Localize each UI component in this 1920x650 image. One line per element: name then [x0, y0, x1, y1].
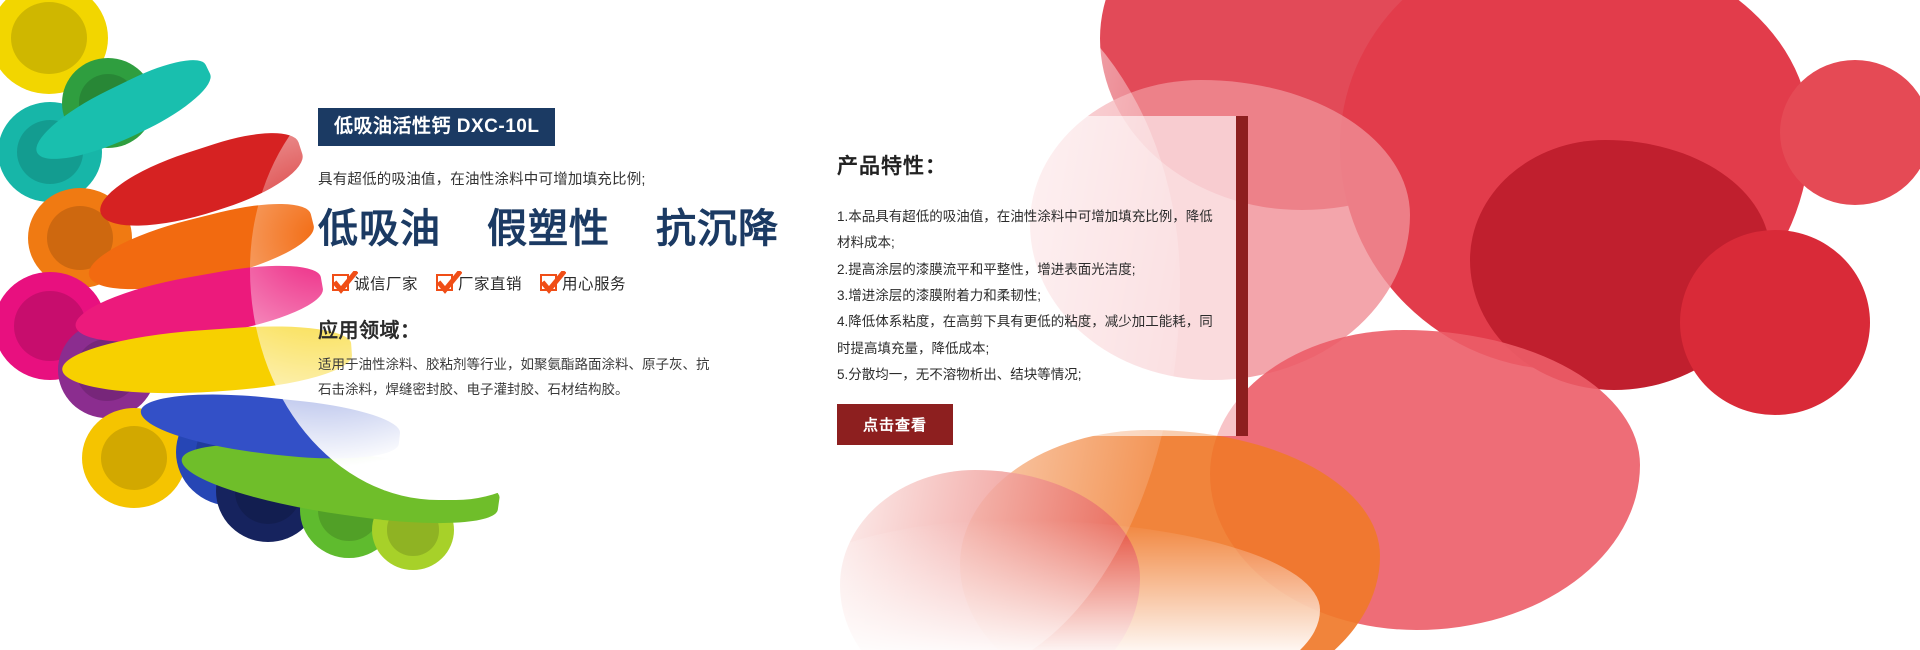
paint-ring-teal	[0, 102, 102, 202]
paint-streak-teal	[26, 47, 220, 177]
paint-ring-purple	[58, 322, 156, 418]
paint-ring-blue	[176, 398, 288, 506]
paint-streak-orange	[82, 191, 320, 307]
paint-ring-red-farright	[1780, 60, 1920, 205]
paint-ring-magenta	[0, 272, 106, 380]
paint-smear-red-right	[1340, 0, 1810, 370]
paint-ring-yellow	[0, 0, 108, 94]
checkbox-checked-icon	[436, 274, 453, 291]
trust-badge-row: 诚信厂家 厂家直销 用心服务	[332, 272, 738, 294]
paint-smear-pink-low	[1210, 330, 1640, 630]
paint-streak-yellow	[60, 320, 354, 402]
paint-smear-darkred	[1470, 140, 1770, 390]
paint-ring-navy	[216, 440, 320, 542]
paint-smear-white-bottom	[780, 520, 1320, 650]
headline-word-2: 假塑性	[487, 206, 610, 251]
application-section-body: 适用于油性涂料、胶粘剂等行业，如聚氨酯路面涂料、原子灰、抗石击涂料，焊缝密封胶、…	[318, 353, 718, 403]
feature-list: 1.本品具有超低的吸油值，在油性涂料中可增加填充比例，降低材料成本; 2.提高涂…	[837, 204, 1222, 388]
panel-accent-bar	[1236, 116, 1248, 436]
feature-list-item: 1.本品具有超低的吸油值，在油性涂料中可增加填充比例，降低材料成本;	[837, 204, 1222, 257]
paint-ring-green	[62, 58, 154, 148]
paint-streak-magenta	[71, 255, 328, 358]
panel-content: 产品特性： 1.本品具有超低的吸油值，在油性涂料中可增加填充比例，降低材料成本;…	[803, 116, 1248, 445]
left-copy-block: 低吸油活性钙 DXC-10L 具有超低的吸油值，在油性涂料中可增加填充比例; 低…	[318, 108, 738, 403]
headline-word-3: 抗沉降	[656, 206, 779, 251]
paint-streak-red	[91, 119, 310, 245]
product-headline: 低吸油 假塑性 抗沉降	[318, 206, 738, 252]
view-details-button[interactable]: 点击查看	[837, 404, 953, 445]
trust-badge-item-2: 厂家直销	[436, 272, 522, 294]
paint-smear-orange-bottom	[960, 430, 1380, 650]
panel-title: 产品特性：	[837, 150, 1214, 180]
paint-ring-red-right-edge	[1680, 230, 1870, 415]
checkbox-checked-icon	[540, 274, 557, 291]
banner-stage: 低吸油活性钙 DXC-10L 具有超低的吸油值，在油性涂料中可增加填充比例; 低…	[0, 0, 1920, 650]
checkbox-checked-icon	[332, 274, 349, 291]
feature-list-item: 4.降低体系粘度，在高剪下具有更低的粘度，减少加工能耗，同时提高填充量，降低成本…	[837, 309, 1222, 362]
paint-ring-green-low	[300, 462, 398, 558]
trust-badge-label-1: 诚信厂家	[354, 272, 418, 294]
feature-list-item: 5.分散均一，无不溶物析出、结块等情况;	[837, 362, 1222, 388]
product-features-panel: 产品特性： 1.本品具有超低的吸油值，在油性涂料中可增加填充比例，降低材料成本;…	[803, 116, 1248, 436]
trust-badge-item-1: 诚信厂家	[332, 272, 418, 294]
headline-word-1: 低吸油	[318, 206, 441, 251]
paint-ring-yellow-low	[82, 408, 186, 508]
paint-smear-red-bottomleft	[840, 470, 1140, 650]
application-section-heading: 应用领域：	[318, 314, 738, 343]
trust-badge-item-3: 用心服务	[540, 272, 626, 294]
trust-badge-label-3: 用心服务	[562, 272, 626, 294]
product-title-badge: 低吸油活性钙 DXC-10L	[318, 108, 555, 146]
feature-list-item: 2.提高涂层的漆膜流平和平整性，增进表面光洁度;	[837, 257, 1222, 283]
paint-ring-lime	[372, 490, 454, 570]
feature-list-item: 3.增进涂层的漆膜附着力和柔韧性;	[837, 283, 1222, 309]
paint-streak-green	[177, 430, 503, 536]
trust-badge-label-2: 厂家直销	[458, 272, 522, 294]
product-subtitle: 具有超低的吸油值，在油性涂料中可增加填充比例;	[318, 170, 738, 192]
paint-ring-orange	[28, 188, 132, 288]
